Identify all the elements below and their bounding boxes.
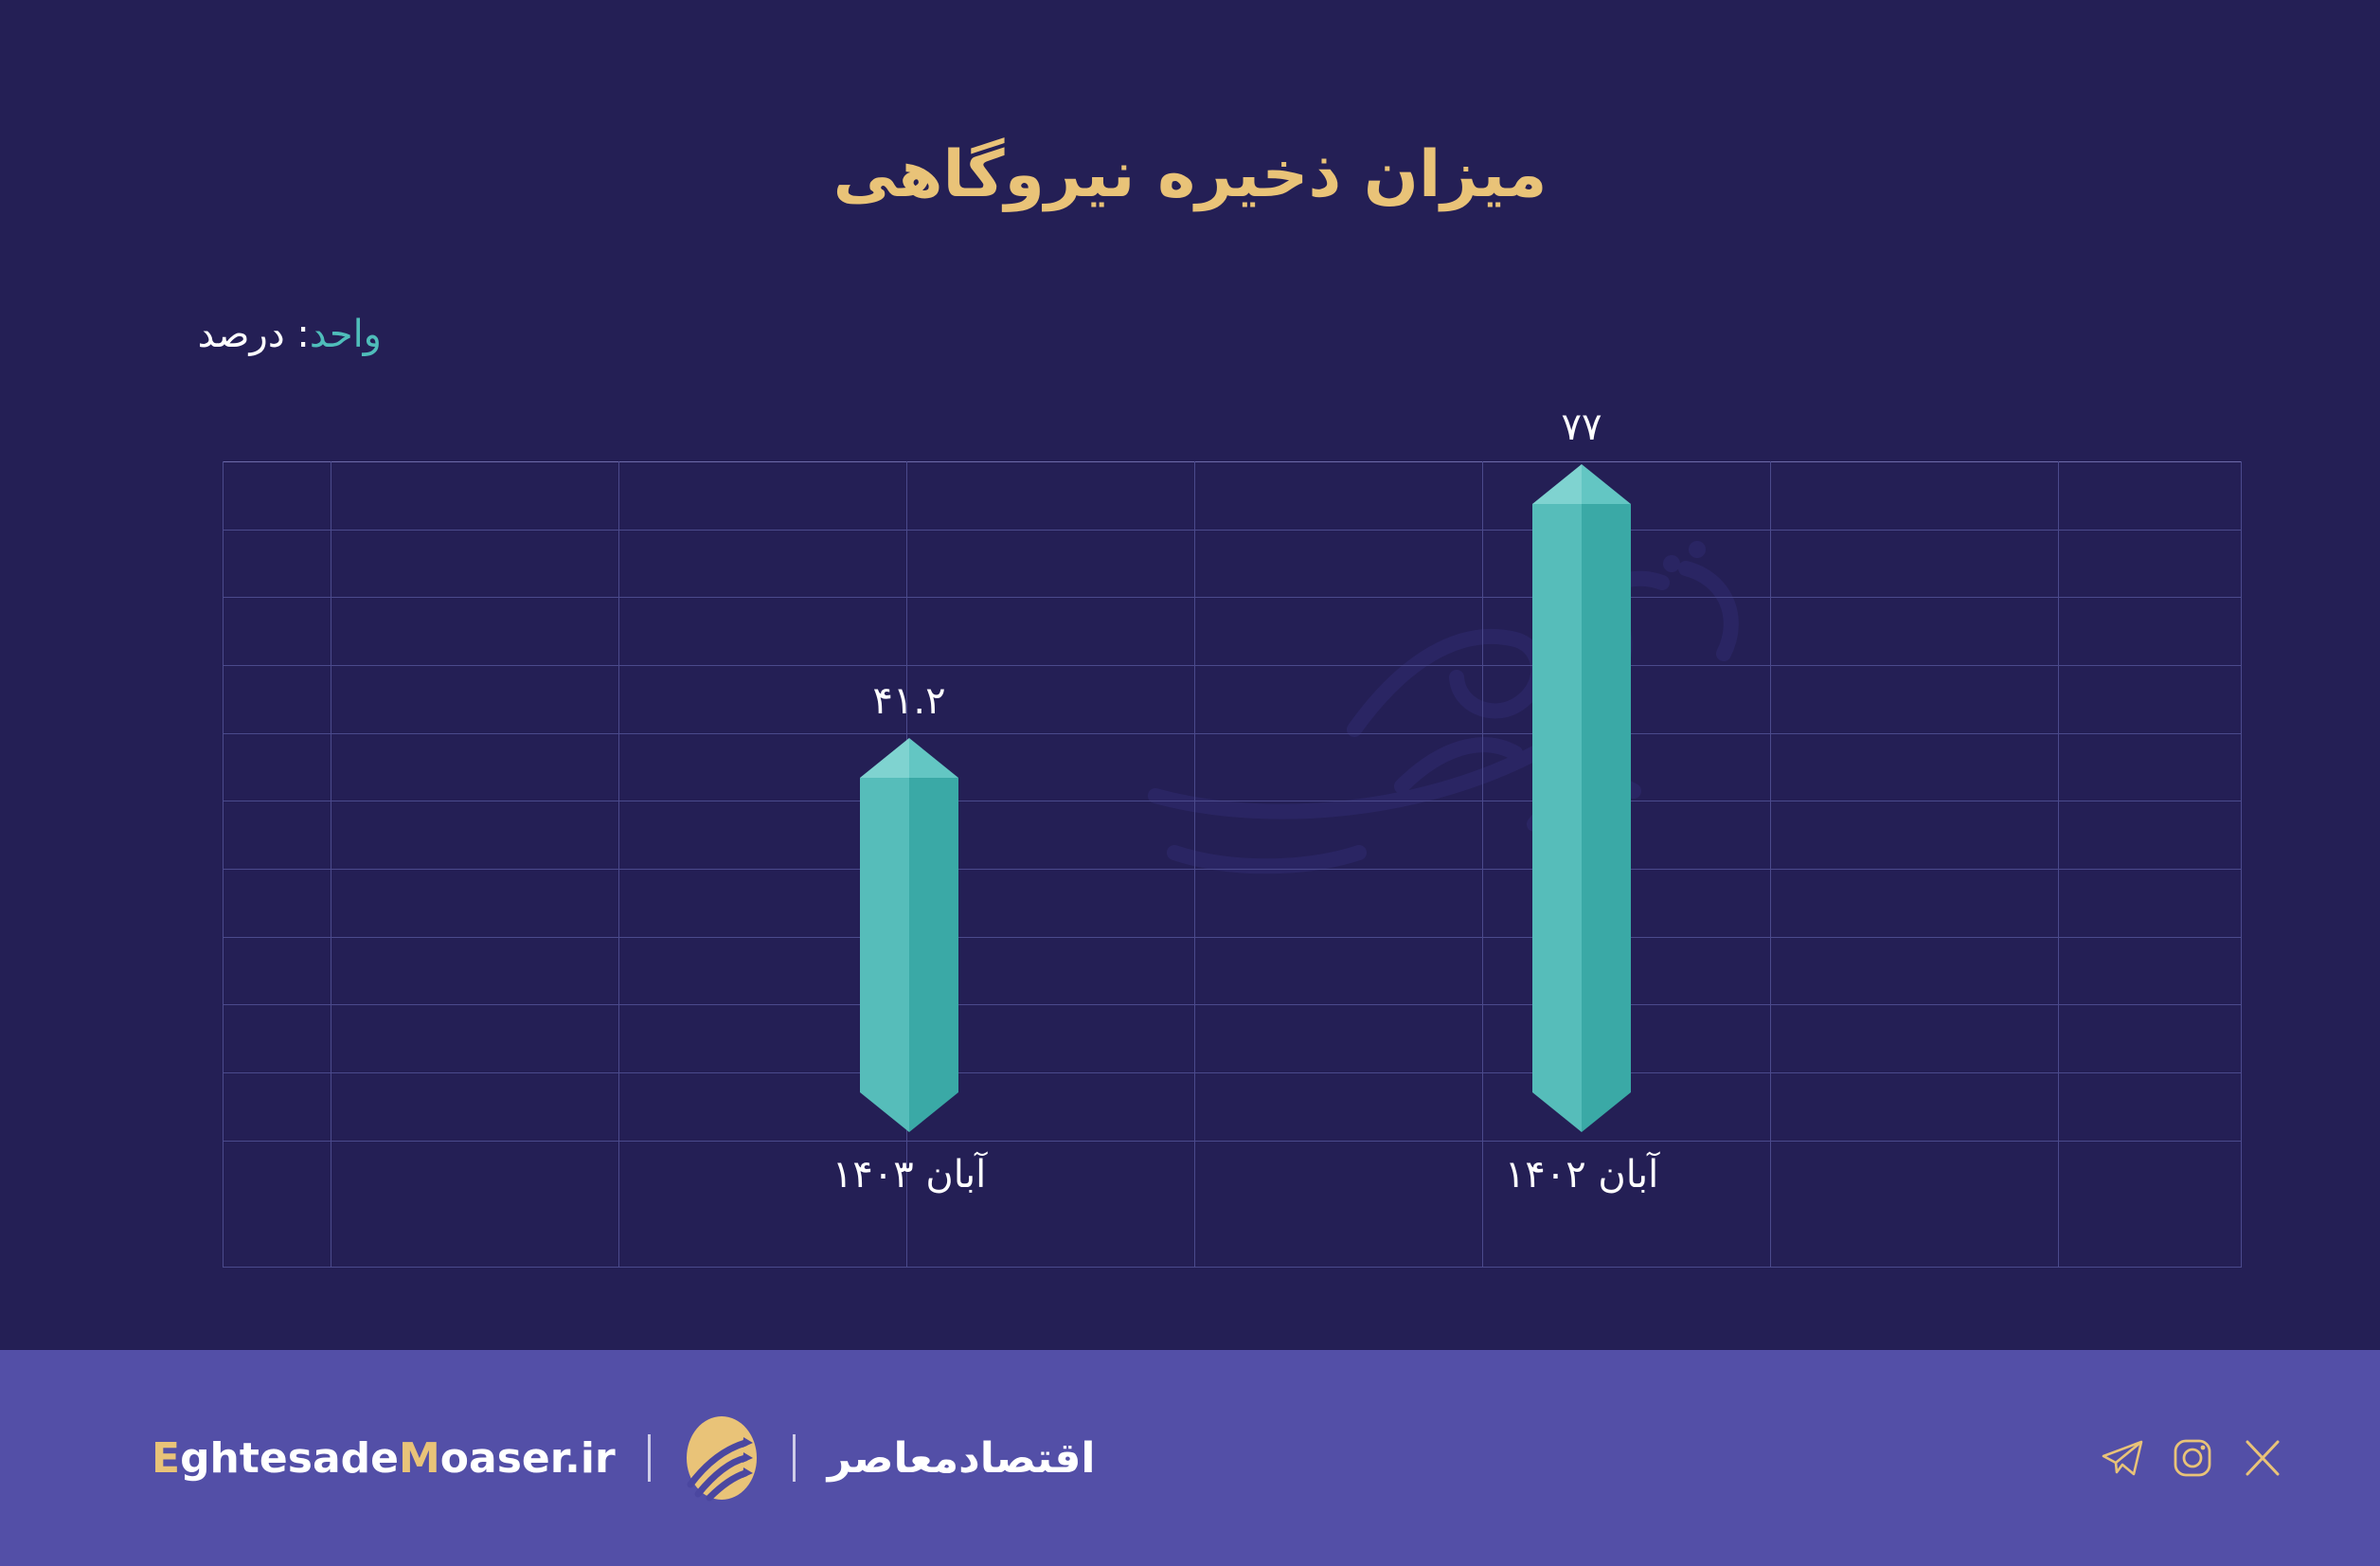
chart-title: میزان ذخیره نیروگاهی (0, 137, 2380, 212)
x-icon[interactable] (2240, 1435, 2285, 1481)
bar-bottom-face (1532, 1092, 1631, 1136)
gridline-vertical (2058, 461, 2059, 1268)
gridline-horizontal (223, 530, 2242, 531)
gridline-horizontal (223, 461, 2242, 462)
bar-left-face (1532, 504, 1582, 1092)
gridline-horizontal (223, 597, 2242, 598)
brand-en-part-3: M (399, 1434, 440, 1483)
gridline-horizontal (223, 1141, 2242, 1142)
y-axis-tick-label: ۶۰ (0, 581, 73, 614)
y-axis-tick-label: ۵ (0, 988, 73, 1021)
brand-group: اقتصادمعاصر EghtesadeMoaser.ir (152, 1413, 1095, 1503)
gridline-vertical (223, 461, 224, 1268)
brand-divider-1 (793, 1434, 796, 1482)
logo-icon (683, 1413, 761, 1503)
brand-name-fa: اقتصادمعاصر (828, 1434, 1096, 1483)
unit-value: : درصد (198, 313, 310, 356)
brand-name-en: EghtesadeMoaser.ir (152, 1434, 616, 1483)
bar-right-face (909, 778, 958, 1092)
y-axis-tick-label: ۲۰ (0, 853, 73, 886)
gridline-vertical (618, 461, 619, 1268)
gridline-horizontal (223, 1004, 2242, 1005)
brand-en-part-4: oaser.ir (440, 1434, 616, 1483)
bar-body (860, 778, 958, 1092)
telegram-icon[interactable] (2100, 1435, 2145, 1481)
y-axis-tick-label: ۳۰ (0, 784, 73, 818)
chart-plot-area: ۸۰۷۰۶۰۵۰۴۰۳۰۲۰۱۰۵۰۴۱.۲آبان ۱۴۰۳۷۷آبان ۱۴… (223, 461, 2242, 1268)
x-axis-category-label: آبان ۱۴۰۳ (832, 1153, 986, 1197)
gridline-vertical (2241, 461, 2242, 1268)
y-axis-tick-label: ۸۰ (0, 445, 73, 478)
x-axis-category-label: آبان ۱۴۰۲ (1505, 1153, 1658, 1197)
unit-key: واحد (310, 313, 382, 356)
brand-en-part-2: ghtesade (180, 1434, 399, 1483)
bar-bottom-face (860, 1092, 958, 1136)
gridline-vertical (1770, 461, 1771, 1268)
bar-column[interactable]: ۷۷آبان ۱۴۰۲ (1532, 464, 1631, 1092)
gridline-horizontal (223, 1267, 2242, 1268)
instagram-icon[interactable] (2170, 1435, 2215, 1481)
gridline-horizontal (223, 733, 2242, 734)
gridline-vertical (1194, 461, 1195, 1268)
bar-left-face (860, 778, 909, 1092)
y-axis-tick-label: ۷۰ (0, 513, 73, 547)
gridline-vertical (331, 461, 331, 1268)
bar-column[interactable]: ۴۱.۲آبان ۱۴۰۳ (860, 738, 958, 1092)
bar-top-face (860, 738, 958, 778)
social-links (2100, 1435, 2285, 1481)
bar-body (1532, 504, 1631, 1092)
brand-en-part-1: E (152, 1434, 180, 1483)
y-axis-tick-label: ۱۰ (0, 921, 73, 954)
gridline-vertical (1482, 461, 1483, 1268)
gridline-horizontal (223, 869, 2242, 870)
brand-divider-2 (648, 1434, 651, 1482)
gridline-horizontal (223, 801, 2242, 801)
y-axis-tick-label: ۵۰ (0, 649, 73, 682)
bar-top-face (1532, 464, 1631, 504)
y-axis-tick-label: ۰ (0, 1056, 73, 1089)
y-axis-tick-label: ۴۰ (0, 717, 73, 750)
footer-bar: اقتصادمعاصر EghtesadeMoaser.ir (0, 1350, 2380, 1566)
bar-value-label: ۴۱.۲ (872, 679, 945, 723)
unit-label: واحد: درصد (198, 313, 382, 356)
gridline-horizontal (223, 665, 2242, 666)
gridline-horizontal (223, 937, 2242, 938)
gridline-horizontal (223, 1072, 2242, 1073)
bar-right-face (1582, 504, 1631, 1092)
bar-value-label: ۷۷ (1562, 405, 1602, 449)
